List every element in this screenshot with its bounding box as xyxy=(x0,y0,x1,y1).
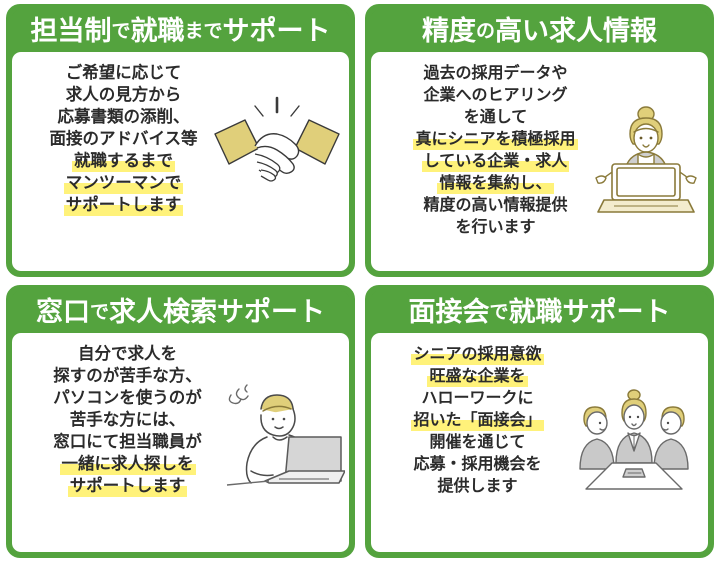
card-interview-event-support[interactable]: 面接会で就職サポート シニアの採用意欲 旺盛な企業を ハローワークに 招いた「面… xyxy=(365,285,714,558)
card-4-line-5: 応募・採用機会を xyxy=(411,453,543,475)
card-1-header: 担当制で就職までサポート xyxy=(12,10,349,52)
interview-panel-icon xyxy=(564,385,704,497)
laptop-man-icon xyxy=(223,381,345,493)
card-1-text: ご希望に応じて 求人の見方から 応募書類の添削、 面接のアドバイス等 就職するま… xyxy=(12,52,349,271)
card-3-line-3: 苦手な方には、 xyxy=(68,409,188,431)
card-2-header-part-0: 精度 xyxy=(422,18,476,45)
card-2-body: 過去の採用データや 企業へのヒアリング を通して 真にシニアを積極採用 している… xyxy=(371,52,708,271)
card-2-header-part-1: の xyxy=(476,18,495,45)
card-1-line-5: マンツーマンで xyxy=(64,172,184,194)
card-3-line-4: 窓口にて担当職員が xyxy=(51,431,204,453)
card-support-until-employment[interactable]: 担当制で就職までサポート ご希望に応じて 求人の見方から 応募書類の添削、 面接… xyxy=(6,4,355,277)
card-high-accuracy-job-info[interactable]: 精度の高い求人情報 過去の採用データや 企業へのヒアリング を通して 真にシニア… xyxy=(365,4,714,277)
card-1-line-2: 応募書類の添削、 xyxy=(56,106,192,128)
handshake-icon xyxy=(211,94,343,190)
card-4-line-4: 開催を通じて xyxy=(427,431,527,453)
card-3-header-part-2: 求人検索サポート xyxy=(109,299,325,326)
card-3-line-6: サポートします xyxy=(68,475,188,497)
card-3-header-part-0: 窓口 xyxy=(36,299,90,326)
card-1-line-4: 就職するまで xyxy=(72,150,175,172)
card-2-line-1: 企業へのヒアリング xyxy=(421,84,569,106)
card-3-text: 自分で求人を 探すのが苦手な方、 パソコンを使うのが 苦手な方には、 窓口にて担… xyxy=(12,333,349,552)
card-3-line-5: 一緒に求人探しを xyxy=(60,453,196,475)
card-2-line-0: 過去の採用データや xyxy=(421,62,569,84)
card-4-body: シニアの採用意欲 旺盛な企業を ハローワークに 招いた「面接会」 開催を通じて … xyxy=(371,333,708,552)
card-4-line-2: ハローワークに xyxy=(419,387,535,409)
card-4-header-part-0: 面接会 xyxy=(408,299,489,326)
card-2-line-7: を行います xyxy=(453,216,537,238)
card-3-header: 窓口で求人検索サポート xyxy=(12,291,349,333)
card-1-header-part-2: 就職 xyxy=(131,18,185,45)
card-2-line-2: を通して xyxy=(462,106,530,128)
laptop-woman-icon xyxy=(594,100,698,218)
card-1-header-part-0: 担当制 xyxy=(30,18,111,45)
card-3-header-part-1: で xyxy=(90,299,109,326)
card-3-body: 自分で求人を 探すのが苦手な方、 パソコンを使うのが 苦手な方には、 窓口にて担… xyxy=(12,333,349,552)
feature-card-grid: 担当制で就職までサポート ご希望に応じて 求人の見方から 応募書類の添削、 面接… xyxy=(0,0,720,564)
card-1-header-part-3: まで xyxy=(185,18,223,45)
card-2-line-4: している企業・求人 xyxy=(422,150,570,172)
card-2-header: 精度の高い求人情報 xyxy=(371,10,708,52)
card-1-line-1: 求人の見方から xyxy=(64,84,184,106)
card-counter-job-search-support[interactable]: 窓口で求人検索サポート 自分で求人を 探すのが苦手な方、 パソコンを使うのが 苦… xyxy=(6,285,355,558)
card-3-line-1: 探すのが苦手な方、 xyxy=(51,365,204,387)
card-4-header-part-1: で xyxy=(489,299,508,326)
card-2-line-6: 精度の高い情報提供 xyxy=(421,194,569,216)
card-4-text: シニアの採用意欲 旺盛な企業を ハローワークに 招いた「面接会」 開催を通じて … xyxy=(371,333,708,552)
card-1-line-3: 面接のアドバイス等 xyxy=(47,128,199,150)
card-1-header-part-1: で xyxy=(111,18,130,45)
card-1-line-6: サポートします xyxy=(64,194,184,216)
card-2-header-part-2: 高い求人情報 xyxy=(495,18,657,45)
card-1-line-0: ご希望に応じて xyxy=(64,62,184,84)
card-2-line-5: 情報を集約し、 xyxy=(437,172,553,194)
card-4-header: 面接会で就職サポート xyxy=(371,291,708,333)
card-4-line-3: 招いた「面接会」 xyxy=(411,409,543,431)
card-4-line-0: シニアの採用意欲 xyxy=(411,343,543,365)
card-4-line-6: 提供します xyxy=(435,475,519,497)
card-4-line-1: 旺盛な企業を xyxy=(427,365,527,387)
card-3-line-2: パソコンを使うのが xyxy=(51,387,204,409)
card-1-body: ご希望に応じて 求人の見方から 応募書類の添削、 面接のアドバイス等 就職するま… xyxy=(12,52,349,271)
card-4-header-part-2: 就職サポート xyxy=(509,299,671,326)
card-3-line-0: 自分で求人を xyxy=(76,343,179,365)
card-1-header-part-4: サポート xyxy=(223,18,331,45)
card-2-line-3: 真にシニアを積極採用 xyxy=(413,128,577,150)
card-2-text: 過去の採用データや 企業へのヒアリング を通して 真にシニアを積極採用 している… xyxy=(371,52,708,271)
